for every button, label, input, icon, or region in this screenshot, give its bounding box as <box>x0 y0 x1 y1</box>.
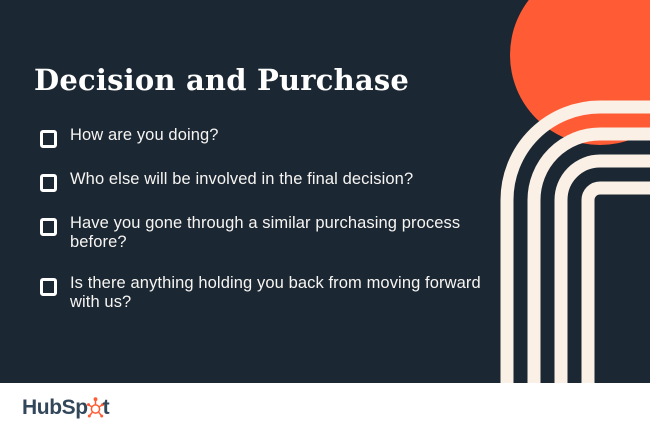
square-bullet-icon <box>40 278 57 296</box>
hubspot-logo-lead-text: HubSp <box>22 397 88 418</box>
list-item-label: How are you doing? <box>70 126 500 145</box>
list-item: How are you doing? <box>40 126 500 148</box>
hubspot-logo: HubSp t <box>22 394 109 420</box>
slide-canvas: Decision and Purchase How are you doing?… <box>0 0 650 433</box>
list-item-label: Have you gone through a similar purchasi… <box>70 214 500 252</box>
list-item: Is there anything holding you back from … <box>40 274 500 312</box>
decorative-arc-4 <box>588 188 650 383</box>
decorative-orange-circle <box>510 0 650 145</box>
page-title: Decision and Purchase <box>34 63 409 97</box>
list-item: Who else will be involved in the final d… <box>40 170 500 192</box>
slide-dark-background: Decision and Purchase How are you doing?… <box>0 0 650 383</box>
question-list: How are you doing? Who else will be invo… <box>40 126 500 335</box>
list-item: Have you gone through a similar purchasi… <box>40 214 500 252</box>
hubspot-sprocket-icon <box>87 397 104 418</box>
list-item-label: Is there anything holding you back from … <box>70 274 500 312</box>
footer-bar: HubSp t <box>0 383 650 433</box>
square-bullet-icon <box>40 218 57 236</box>
square-bullet-icon <box>40 174 57 192</box>
list-item-label: Who else will be involved in the final d… <box>70 170 500 189</box>
hubspot-logo-tail-text: t <box>103 397 110 418</box>
square-bullet-icon <box>40 130 57 148</box>
